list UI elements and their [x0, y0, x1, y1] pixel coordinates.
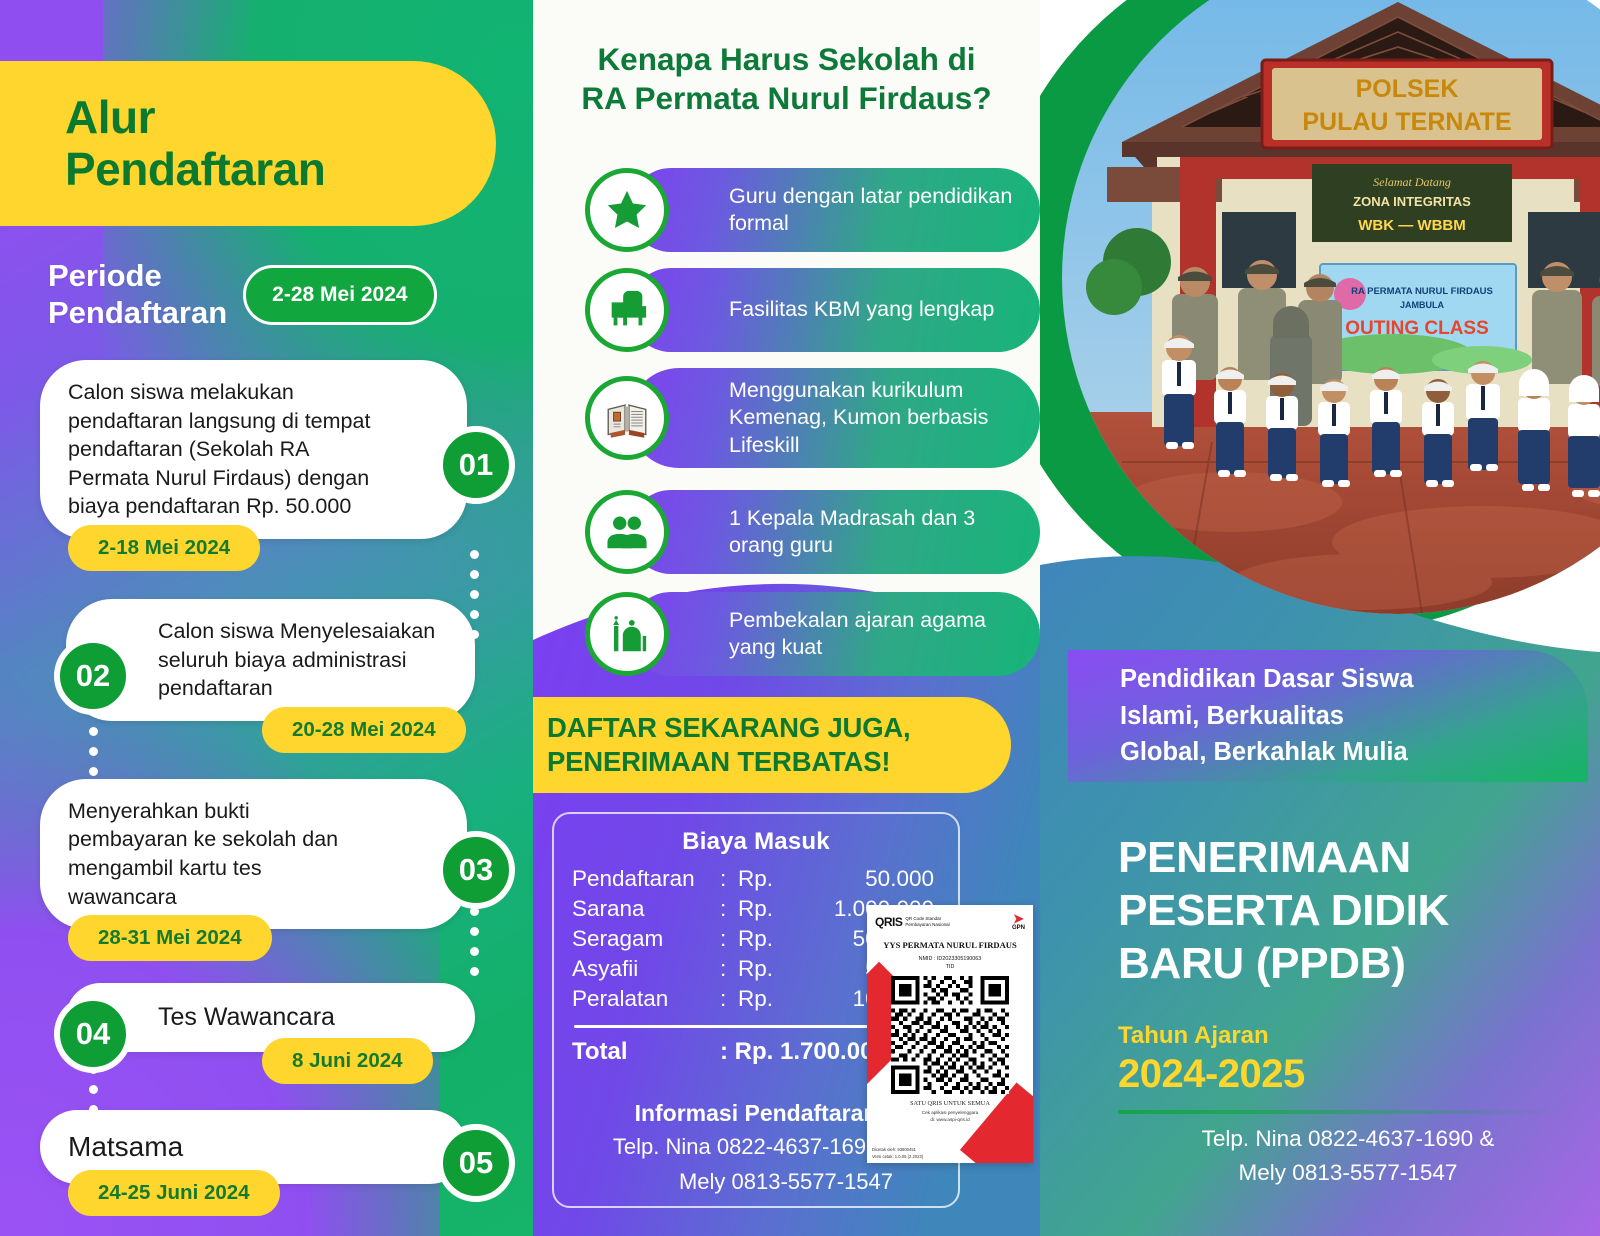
biaya-masuk-title: Biaya Masuk	[572, 828, 940, 856]
tahun-ajaran-value: 2024-2025	[1118, 1052, 1305, 1097]
biaya-row-currency: Rp.	[738, 924, 784, 954]
poster-root: Alur Pendaftaran Periode Pendaftaran 2-2…	[0, 0, 1600, 1236]
feature-item-2-label: Fasilitas KBM yang lengkap	[729, 296, 994, 323]
timeline-step-01-number: 01	[437, 426, 515, 504]
ppdb-main-title: PENERIMAAN PESERTA DIDIK BARU (PPDB)	[1118, 832, 1588, 990]
biaya-row-colon: :	[720, 984, 738, 1014]
timeline-step-01-card: Calon siswa melakukan pendaftaran langsu…	[40, 360, 467, 539]
timeline-step-03-card: Menyerahkan bukti pembayaran ke sekolah …	[40, 779, 467, 929]
timeline-step-03: Menyerahkan bukti pembayaran ke sekolah …	[0, 779, 533, 961]
periode-label-line1: Periode	[48, 258, 162, 293]
tahun-ajaran-label: Tahun Ajaran	[1118, 1022, 1269, 1050]
left-panel: Alur Pendaftaran Periode Pendaftaran 2-2…	[0, 0, 533, 1236]
right-contact-line2: Mely 0813-5577-1547	[1118, 1156, 1578, 1190]
registration-timeline: Calon siswa melakukan pendaftaran langsu…	[0, 360, 533, 1222]
svg-text:WBK — WBBM: WBK — WBBM	[1358, 217, 1465, 234]
biaya-row-label: Seragam	[572, 924, 720, 954]
qris-footer-slogan: SATU QRIS UNTUK SEMUA	[867, 1100, 1033, 1107]
timeline-step-02-date: 20-28 Mei 2024	[262, 707, 466, 753]
feature-item-4-pill: 1 Kepala Madrasah dan 3 orang guru	[629, 490, 1040, 574]
feature-item-1-pill: Guru dengan latar pendidikan formal	[629, 168, 1040, 252]
feature-item-4: 1 Kepala Madrasah dan 3 orang guru	[585, 490, 1040, 574]
gpn-bird-icon: ➤	[1012, 912, 1025, 925]
feature-item-3-label: Menggunakan kurikulum Kemenag, Kumon ber…	[729, 377, 1022, 459]
qris-header: QRIS QR Code Standar Pembayaran Nasional…	[867, 905, 1033, 931]
tagline-line1: Pendidikan Dasar Siswa	[1120, 661, 1588, 698]
timeline-connector-dots-3	[470, 907, 479, 976]
feature-item-1: Guru dengan latar pendidikan formal	[585, 168, 1040, 252]
timeline-step-05-date: 24-25 Juni 2024	[68, 1170, 280, 1216]
timeline-step-01-date-wrap: 2-18 Mei 2024	[0, 539, 533, 571]
biaya-row-colon: :	[720, 954, 738, 984]
feature-item-2-pill: Fasilitas KBM yang lengkap	[629, 268, 1040, 352]
timeline-step-04: Tes Wawancara 04 8 Juni 2024	[0, 983, 533, 1084]
cta-line1: DAFTAR SEKARANG JUGA,	[547, 711, 1011, 745]
timeline-step-05-number: 05	[437, 1124, 515, 1202]
feature-list: Guru dengan latar pendidikan formal Fasi…	[585, 168, 1040, 692]
timeline-step-02: Calon siswa Menyelesaiakan seluruh biaya…	[0, 599, 533, 753]
timeline-step-02-date-wrap: 20-28 Mei 2024	[0, 721, 533, 753]
tagline-line3: Global, Berkahlak Mulia	[1120, 734, 1588, 771]
timeline-step-02-number: 02	[54, 637, 132, 715]
school-photo: POLSEK PULAU TERNATE Selamat Datang ZONA…	[1062, 0, 1600, 614]
qr-code-image	[891, 976, 1009, 1094]
qris-print-info: Dicetak oleh: 93600451 Versi cetak: 1.0.…	[872, 1147, 923, 1160]
ppdb-title-line1: PENERIMAAN	[1118, 832, 1588, 885]
timeline-step-02-text: Calon siswa Menyelesaiakan seluruh biaya…	[158, 619, 435, 700]
timeline-connector-dots-2	[89, 727, 98, 796]
svg-text:OUTING CLASS: OUTING CLASS	[1345, 318, 1489, 339]
feature-item-3-pill: Menggunakan kurikulum Kemenag, Kumon ber…	[629, 368, 1040, 468]
biaya-row-currency: Rp.	[738, 894, 784, 924]
qris-nmid: NMID : ID2023305190063 TID	[867, 955, 1033, 971]
cta-line2: PENERIMAAN TERBATAS!	[547, 745, 1011, 779]
biaya-row-label: Sarana	[572, 894, 720, 924]
biaya-row-colon: :	[720, 924, 738, 954]
tagline-line2: Islami, Berkualitas	[1120, 698, 1588, 735]
page-title-line2: Pendaftaran	[65, 143, 325, 195]
feature-item-5-label: Pembekalan ajaran agama yang kuat	[729, 607, 1022, 662]
timeline-step-03-number: 03	[437, 831, 515, 909]
middle-heading-line1: Kenapa Harus Sekolah di	[597, 41, 975, 77]
feature-item-5: Pembekalan ajaran agama yang kuat	[585, 592, 1040, 676]
timeline-step-01: Calon siswa melakukan pendaftaran langsu…	[0, 360, 533, 571]
biaya-row-label: Pendaftaran	[572, 864, 720, 894]
biaya-row-colon: :	[720, 894, 738, 924]
svg-text:RA PERMATA NURUL FIRDAUS: RA PERMATA NURUL FIRDAUS	[1351, 286, 1493, 297]
feature-item-3: Menggunakan kurikulum Kemenag, Kumon ber…	[585, 368, 1040, 468]
timeline-step-01-date: 2-18 Mei 2024	[68, 525, 260, 571]
biaya-total-label: Total	[572, 1038, 720, 1066]
people-icon	[585, 490, 669, 574]
mosque-icon	[585, 592, 669, 676]
qris-logo: QRIS	[875, 915, 902, 929]
gpn-logo: ➤ GPN	[1012, 912, 1025, 931]
right-panel: POLSEK PULAU TERNATE Selamat Datang ZONA…	[1040, 0, 1600, 1236]
timeline-step-03-date-wrap: 28-31 Mei 2024	[0, 929, 533, 961]
timeline-step-01-text: Calon siswa melakukan pendaftaran langsu…	[68, 380, 370, 518]
middle-heading: Kenapa Harus Sekolah di RA Permata Nurul…	[533, 40, 1040, 117]
tagline-box: Pendidikan Dasar Siswa Islami, Berkualit…	[1068, 650, 1588, 782]
feature-item-4-label: 1 Kepala Madrasah dan 3 orang guru	[729, 505, 1022, 560]
informasi-pendaftaran-line2: Mely 0813-5577-1547	[572, 1166, 940, 1197]
ppdb-title-line2: PESERTA DIDIK	[1118, 885, 1588, 938]
star-icon	[585, 168, 669, 252]
svg-text:POLSEK: POLSEK	[1356, 75, 1459, 103]
alur-pendaftaran-title-card: Alur Pendaftaran	[0, 61, 496, 226]
svg-text:JAMBULA: JAMBULA	[1400, 300, 1444, 310]
biaya-row-currency: Rp.	[738, 984, 784, 1014]
timeline-step-04-text: Tes Wawancara	[158, 1003, 335, 1031]
qris-payment-card: QRIS QR Code Standar Pembayaran Nasional…	[867, 905, 1033, 1163]
page-title-line1: Alur	[65, 91, 155, 143]
biaya-row: Pendaftaran : Rp. 50.000	[572, 864, 940, 894]
timeline-step-04-date: 8 Juni 2024	[262, 1038, 433, 1084]
school-desk-icon	[585, 268, 669, 352]
svg-text:ZONA INTEGRITAS: ZONA INTEGRITAS	[1353, 194, 1471, 209]
timeline-step-03-date: 28-31 Mei 2024	[68, 915, 272, 961]
right-contact-line1: Telp. Nina 0822-4637-1690 &	[1118, 1122, 1578, 1156]
qris-footer-note: Cek aplikasi penyelenggara di: www.aspi-…	[867, 1110, 1033, 1124]
right-contact-info: Telp. Nina 0822-4637-1690 & Mely 0813-55…	[1118, 1122, 1578, 1190]
periode-row: Periode Pendaftaran 2-28 Mei 2024	[48, 258, 488, 331]
periode-label-line2: Pendaftaran	[48, 295, 227, 330]
page-title: Alur Pendaftaran	[65, 92, 325, 195]
biaya-row-amount: 50.000	[784, 864, 940, 894]
right-divider	[1118, 1110, 1568, 1114]
middle-heading-line2: RA Permata Nurul Firdaus?	[581, 80, 991, 116]
periode-label: Periode Pendaftaran	[48, 258, 227, 331]
periode-badge: 2-28 Mei 2024	[243, 265, 436, 325]
timeline-connector-dots-4	[89, 1065, 98, 1134]
svg-text:PULAU TERNATE: PULAU TERNATE	[1302, 108, 1511, 136]
timeline-connector-dots-1	[470, 550, 479, 639]
timeline-step-05-text: Matsama	[68, 1131, 183, 1162]
ppdb-title-line3: BARU (PPDB)	[1118, 938, 1588, 991]
biaya-row-currency: Rp.	[738, 954, 784, 984]
qris-logo-subtitle: QR Code Standar Pembayaran Nasional	[905, 916, 949, 927]
svg-text:Selamat Datang: Selamat Datang	[1373, 175, 1451, 189]
biaya-row-label: Peralatan	[572, 984, 720, 1014]
timeline-step-04-number: 04	[54, 995, 132, 1073]
timeline-step-03-text: Menyerahkan bukti pembayaran ke sekolah …	[68, 799, 338, 909]
cta-banner: DAFTAR SEKARANG JUGA, PENERIMAAN TERBATA…	[533, 697, 1011, 793]
biaya-row-label: Asyafii	[572, 954, 720, 984]
school-photo-image: POLSEK PULAU TERNATE Selamat Datang ZONA…	[1062, 0, 1600, 614]
open-book-icon	[585, 376, 669, 460]
timeline-step-05: Matsama 05 24-25 Juni 2024	[0, 1110, 533, 1215]
feature-item-5-pill: Pembekalan ajaran agama yang kuat	[629, 592, 1040, 676]
biaya-row-currency: Rp.	[738, 864, 784, 894]
feature-item-1-label: Guru dengan latar pendidikan formal	[729, 183, 1022, 238]
biaya-row-colon: :	[720, 864, 738, 894]
feature-item-2: Fasilitas KBM yang lengkap	[585, 268, 1040, 352]
qris-merchant-name: YYS PERMATA NURUL FIRDAUS	[867, 940, 1033, 950]
